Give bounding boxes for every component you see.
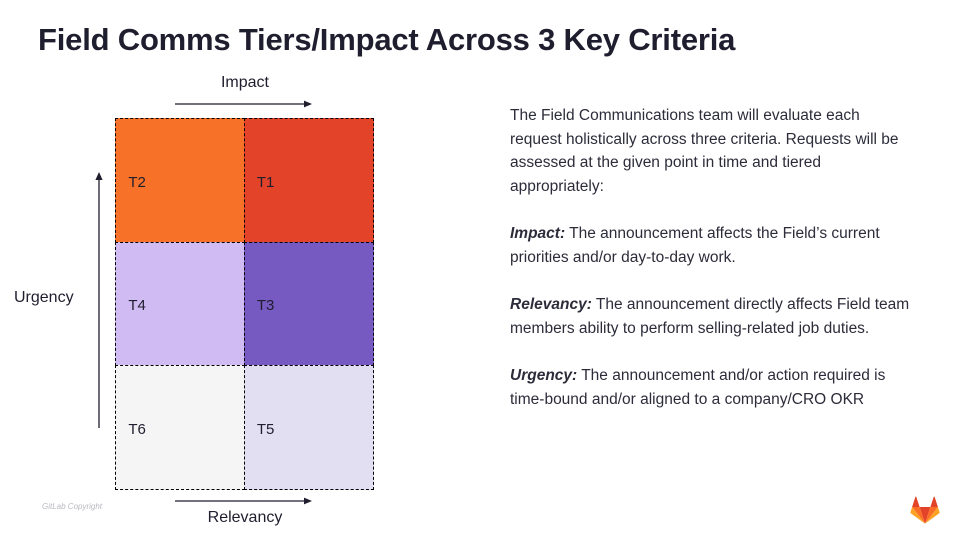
tier-cell-t6[interactable]: T6 xyxy=(115,365,245,490)
gitlab-tanuki-logo-icon xyxy=(910,496,940,524)
criteria-term: Urgency: xyxy=(510,367,577,384)
impact-axis-label: Impact xyxy=(116,74,374,92)
arrow-up-icon xyxy=(92,172,106,428)
urgency-axis-label: Urgency xyxy=(14,289,74,307)
tier-label: T2 xyxy=(116,174,146,191)
tier-label: T3 xyxy=(245,297,275,314)
tier-label: T4 xyxy=(116,297,146,314)
criteria-item-impact: Impact: The announcement affects the Fie… xyxy=(510,222,910,269)
relevancy-axis-label: Relevancy xyxy=(116,509,374,527)
criteria-item-relevancy: Relevancy: The announcement directly aff… xyxy=(510,293,910,340)
footer-copyright: GitLab Copyright xyxy=(42,502,102,511)
tier-label: T6 xyxy=(116,421,146,438)
criteria-description: The announcement affects the Field’s cur… xyxy=(510,225,880,266)
tier-cell-t4[interactable]: T4 xyxy=(115,242,245,367)
criteria-item-urgency: Urgency: The announcement and/or action … xyxy=(510,364,910,411)
tier-label: T5 xyxy=(245,421,275,438)
criteria-term: Impact: xyxy=(510,225,565,242)
tier-cell-t3[interactable]: T3 xyxy=(244,242,374,367)
arrow-right-icon xyxy=(175,98,312,110)
criteria-term: Relevancy: xyxy=(510,296,592,313)
tier-cell-t1[interactable]: T1 xyxy=(244,118,374,243)
criteria-panel: The Field Communications team will evalu… xyxy=(510,104,910,411)
arrow-right-icon xyxy=(175,495,312,507)
tier-cell-t2[interactable]: T2 xyxy=(115,118,245,243)
tier-label: T1 xyxy=(245,174,275,191)
tier-cell-t5[interactable]: T5 xyxy=(244,365,374,490)
criteria-intro-paragraph: The Field Communications team will evalu… xyxy=(510,104,910,198)
tier-grid: T2 T1 T4 T3 T6 T5 xyxy=(116,119,373,489)
tier-matrix-region: Impact Urgency T2 T1 T4 T3 T6 T5 xyxy=(0,0,470,540)
